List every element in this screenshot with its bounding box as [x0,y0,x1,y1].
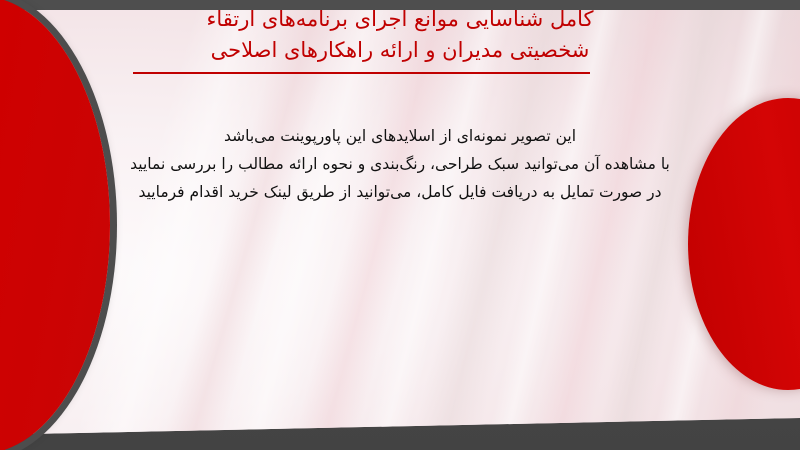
body-text-line-2: با مشاهده آن می‌توانید سبک طراحی، رنگ‌بن… [0,150,800,178]
body-text-line-1: این تصویر نمونه‌ای از اسلایدهای این پاور… [0,122,800,150]
title-underline-rule [133,72,590,74]
slide-title: کامل شناسایی موانع اجرای برنامه‌های ارتق… [0,4,800,66]
slide-title-line-2: شخصیتی مدیران و ارائه راهکارهای اصلاحی [0,35,800,66]
slide-body-text: این تصویر نمونه‌ای از اسلایدهای این پاور… [0,122,800,206]
slide-title-line-1: کامل شناسایی موانع اجرای برنامه‌های ارتق… [0,4,800,35]
slide-canvas: کامل شناسایی موانع اجرای برنامه‌های ارتق… [0,0,800,450]
body-text-line-3: در صورت تمایل به دریافت فایل کامل، می‌تو… [0,178,800,206]
